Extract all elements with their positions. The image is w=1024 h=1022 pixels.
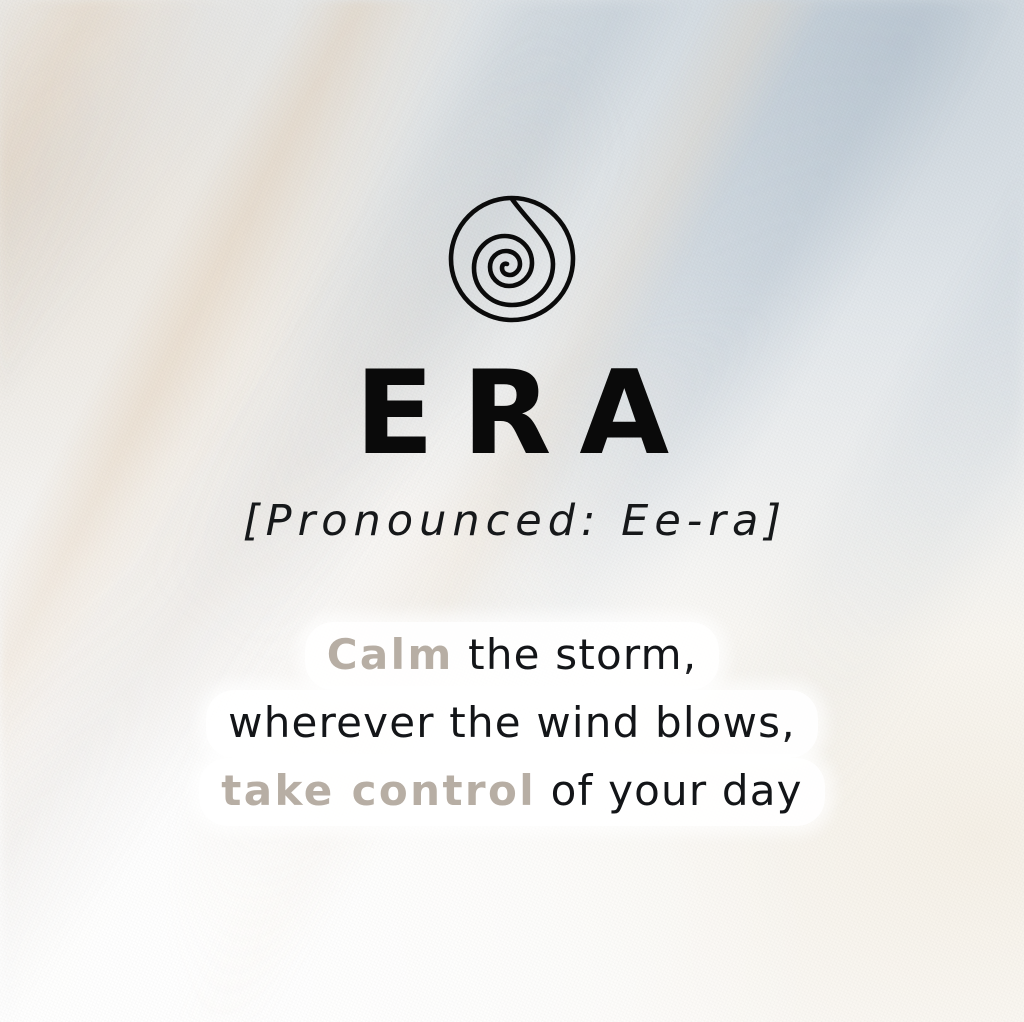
brand-logo [447,194,577,324]
tagline-plain-the-storm: the storm, [454,630,698,679]
tagline-plain-wherever-the-wind-blows: wherever the wind blows, [228,698,796,747]
tagline-accent-take-control: take control [221,766,536,815]
tagline-line-2: wherever the wind blows, [0,690,1024,758]
tagline-line-1-highlight: Calm the storm, [305,622,720,690]
tagline-line-3-highlight: take control of your day [199,758,824,826]
water-drop-spiral-icon [447,194,577,324]
pronunciation-text: [Pronounced: Ee-ra] [0,498,1024,545]
tagline-plain-of-your-day: of your day [536,766,803,815]
tagline-line-2-highlight: wherever the wind blows, [206,690,818,758]
page-title: ERA [0,356,1024,472]
logo-drop-spiral-path [474,199,553,305]
content-stack: ERA [Pronounced: Ee-ra] Calm the storm, … [0,0,1024,1022]
tagline-line-1: Calm the storm, [0,622,1024,690]
tagline-accent-calm: Calm [327,630,454,679]
tagline-block: Calm the storm, wherever the wind blows,… [0,622,1024,826]
brand-card-canvas: ERA [Pronounced: Ee-ra] Calm the storm, … [0,0,1024,1022]
tagline-line-3: take control of your day [0,758,1024,826]
